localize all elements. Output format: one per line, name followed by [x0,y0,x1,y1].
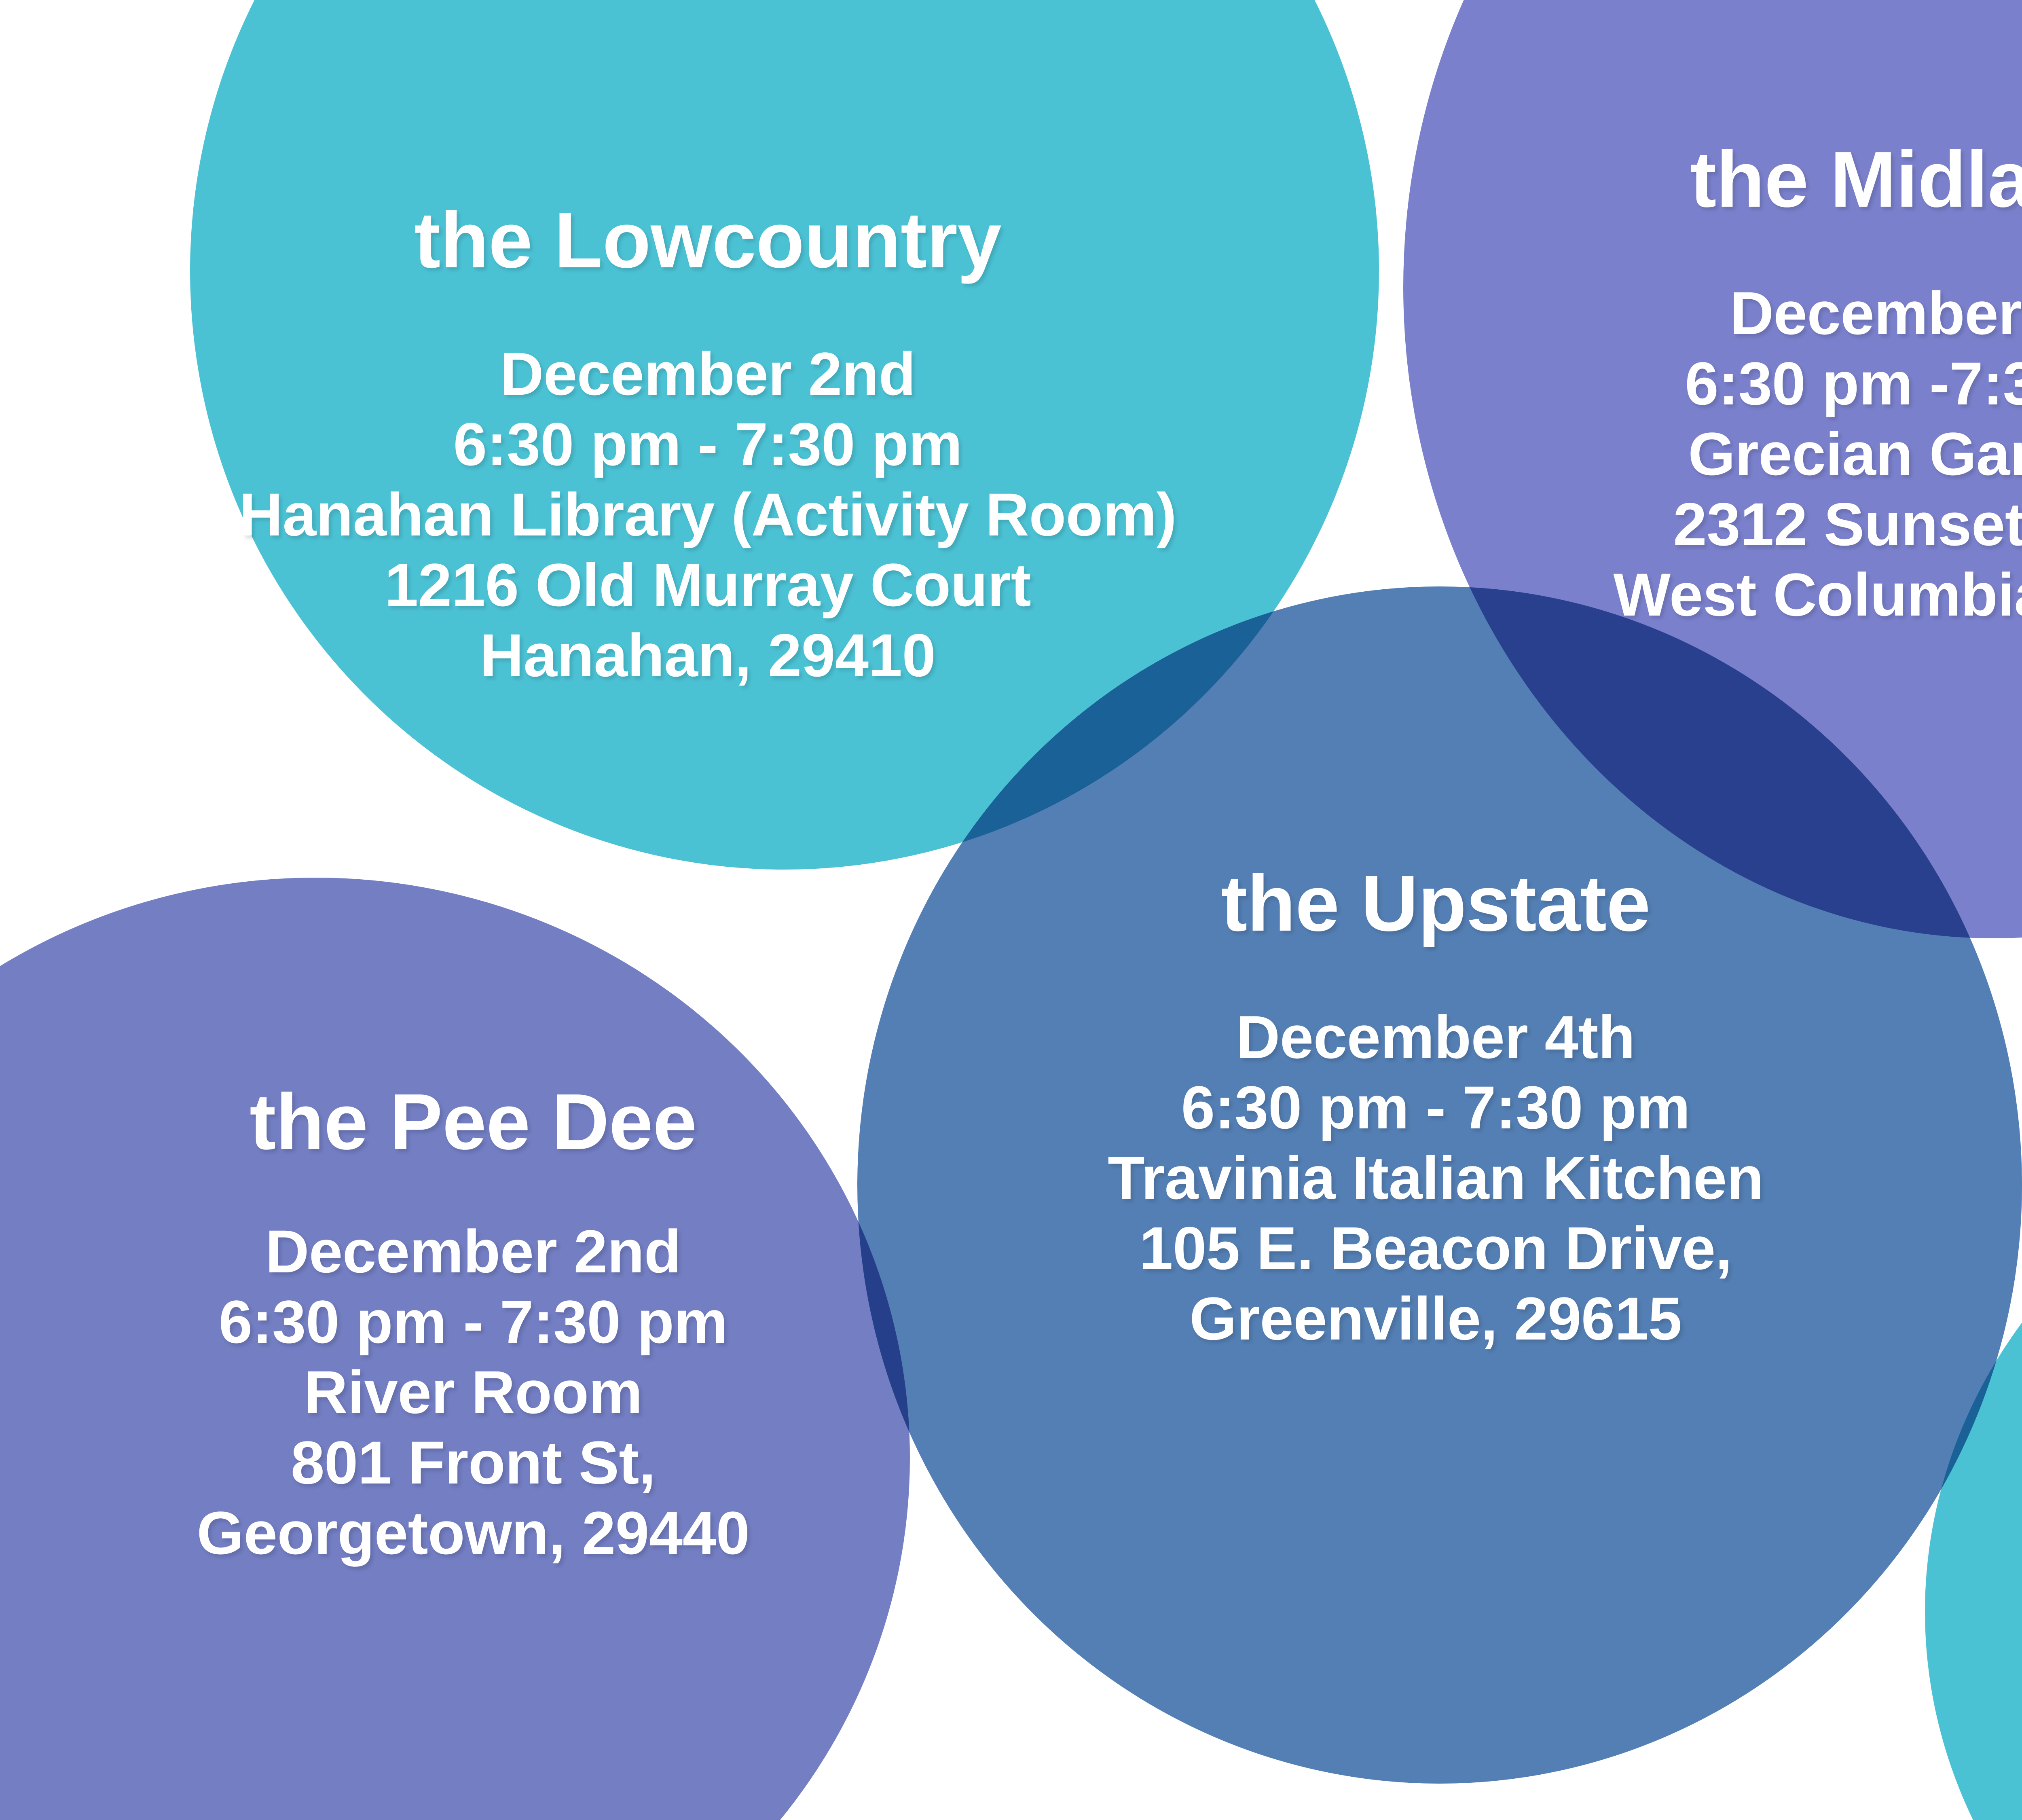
region-details-midlands: December 3rd 6:30 pm -7:30 pm Grecian Ga… [1496,278,2022,630]
region-heading-lowcountry: the Lowcountry [162,194,1254,286]
detail-line: December 2nd [53,1216,894,1287]
detail-line: 6:30 pm -7:30 pm [1496,348,2022,419]
detail-line: 6:30 pm - 7:30 pm [53,1287,894,1357]
detail-line: December 4th [1031,1002,1840,1072]
region-heading-upstate: the Upstate [1031,857,1840,949]
region-block-peedee: the Pee Dee December 2nd 6:30 pm - 7:30 … [53,1076,894,1568]
detail-line: December 3rd [1496,278,2022,348]
contact-name: Monica Akers-Bellamy [2002,1418,2022,1492]
detail-line: Hanahan, 29410 [162,620,1254,690]
detail-line: Greenville, 29615 [1031,1283,1840,1354]
detail-line: Travinia Italian Kitchen [1031,1143,1840,1213]
region-block-midlands: the Midlands December 3rd 6:30 pm -7:30 … [1496,133,2022,630]
detail-line: December 2nd [162,339,1254,409]
questions-block: Questions? Contact the Lead Family Child… [2002,1128,2022,1641]
questions-details: Contact the Lead Family Child Care Coach… [2002,1269,2022,1641]
poster-canvas: the Lowcountry December 2nd 6:30 pm - 7:… [0,0,2022,1820]
detail-line: 801 Front St, [53,1427,894,1498]
region-details-lowcountry: December 2nd 6:30 pm - 7:30 pm Hanahan L… [162,339,1254,690]
detail-line: Georgetown, 29440 [53,1498,894,1568]
contact-line: Contact the Lead Family [2002,1269,2022,1343]
contact-line: Child Care Coach [2002,1343,2022,1418]
region-details-peedee: December 2nd 6:30 pm - 7:30 pm River Roo… [53,1216,894,1568]
detail-line: Hanahan Library (Activity Room) [162,479,1254,550]
region-details-upstate: December 4th 6:30 pm - 7:30 pm Travinia … [1031,1002,1840,1354]
region-heading-midlands: the Midlands [1496,133,2022,225]
detail-line: 6:30 pm - 7:30 pm [162,409,1254,479]
detail-line: West Columbia, 29169 [1496,559,2022,630]
contact-phone[interactable]: (864) 520-4229 [2002,1492,2022,1567]
region-heading-peedee: the Pee Dee [53,1076,894,1168]
detail-line: 6:30 pm - 7:30 pm [1031,1072,1840,1143]
region-block-lowcountry: the Lowcountry December 2nd 6:30 pm - 7:… [162,194,1254,690]
contact-email[interactable]: AKBELLM@sc.edu [2002,1567,2022,1641]
detail-line: 105 E. Beacon Drive, [1031,1213,1840,1283]
questions-heading: Questions? [2002,1128,2022,1220]
detail-line: 1216 Old Murray Court [162,550,1254,620]
detail-line: Grecian Gardens [1496,419,2022,489]
detail-line: 2312 Sunset Blvd, [1496,489,2022,559]
detail-line: River Room [53,1357,894,1427]
region-block-upstate: the Upstate December 4th 6:30 pm - 7:30 … [1031,857,1840,1354]
